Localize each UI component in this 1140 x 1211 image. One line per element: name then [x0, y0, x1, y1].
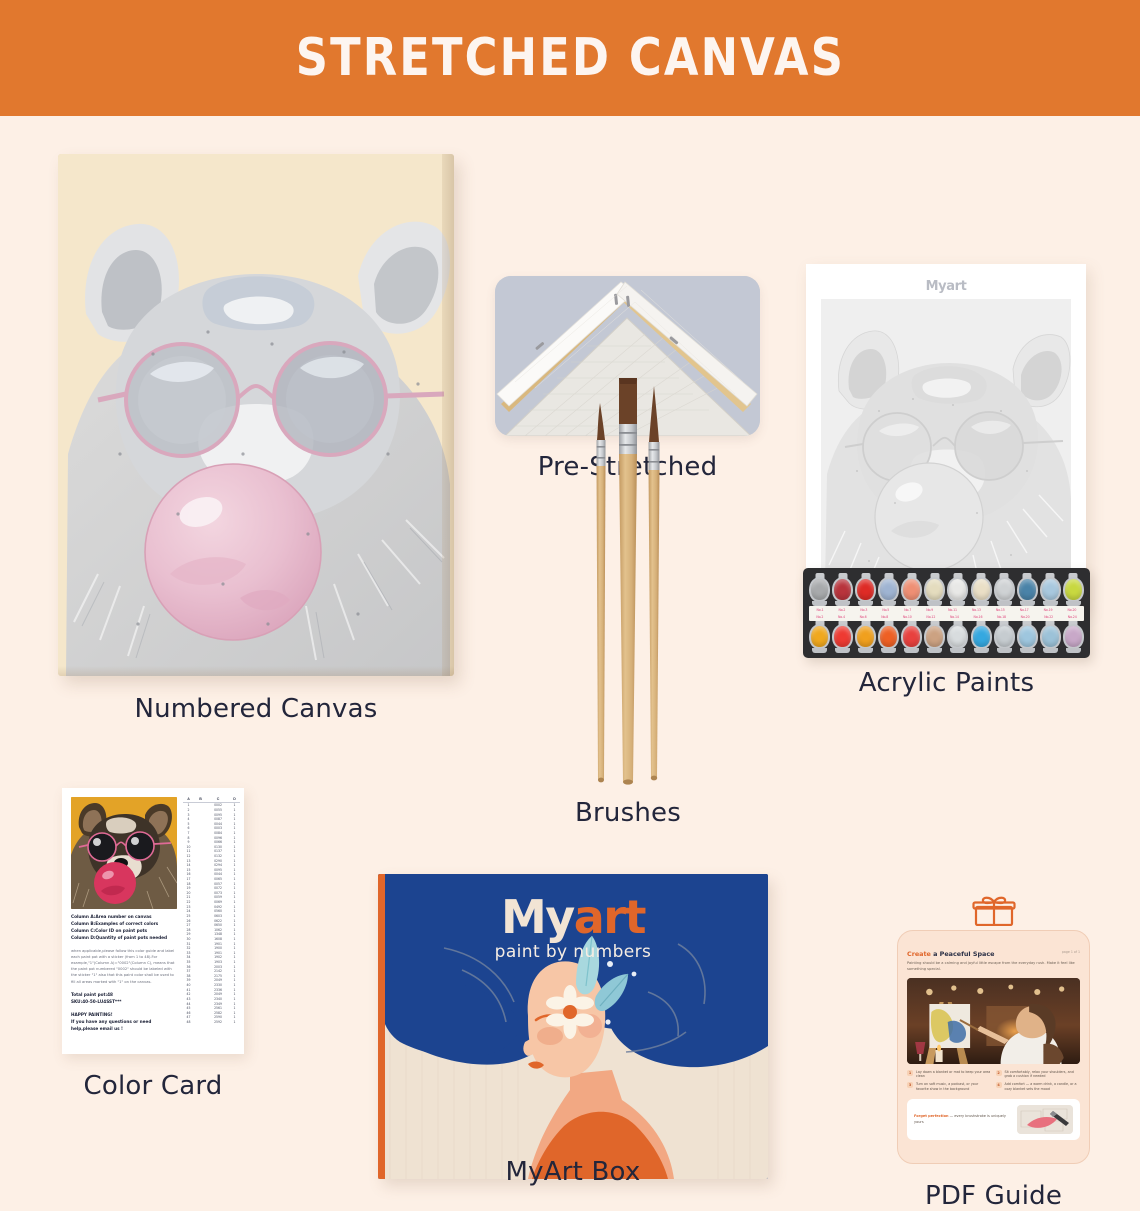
reference-sheet-item: Myart: [806, 264, 1086, 609]
cell-area-number: 23: [183, 905, 194, 909]
cell-area-number: 34: [183, 955, 194, 959]
page-header: STRETCHED CANVAS: [0, 0, 1140, 116]
paint-pot-body: [947, 577, 968, 602]
paint-pot-body: [1017, 577, 1038, 602]
paint-pot-base: [835, 648, 850, 653]
paint-label: No.14: [950, 615, 959, 619]
color-table-row: 1101371: [183, 849, 240, 854]
cell-area-number: 25: [183, 914, 194, 918]
color-table-row: 2506031: [183, 914, 240, 919]
cell-area-number: 5: [183, 822, 194, 826]
cell-color-id: 0095: [207, 868, 229, 872]
color-table-row: 800961: [183, 835, 240, 840]
color-card-caption: Color Card: [62, 1071, 244, 1101]
pdf-tip-text: Lay down a blanket or mat to keep your a…: [916, 1070, 991, 1080]
cell-quantity: 1: [229, 932, 240, 936]
paint-pot: [1063, 620, 1084, 653]
cell-area-number: 46: [183, 1011, 194, 1015]
cell-area-number: 41: [183, 988, 194, 992]
paint-label: No.2: [838, 608, 845, 612]
cell-quantity: 1: [229, 831, 240, 835]
paint-pot-body: [809, 577, 830, 602]
paint-pot-body: [1040, 624, 1061, 649]
paint-pot: [832, 620, 853, 653]
cell-quantity: 1: [229, 808, 240, 812]
pdf-guide-item: page 1 of 1 Create a Peaceful Space Pain…: [897, 898, 1090, 1164]
paint-row-top: [809, 573, 1084, 606]
paint-row-bottom: [809, 620, 1084, 653]
paint-pot: [878, 620, 899, 653]
cell-quantity: 1: [229, 1006, 240, 1010]
cell-area-number: 36: [183, 965, 194, 969]
paint-label: No.8: [881, 615, 888, 619]
paint-label: No.17: [1020, 608, 1029, 612]
cell-quantity: 1: [229, 997, 240, 1001]
pdf-tip-text: Add comfort — a warm drink, a candle, or…: [1005, 1082, 1080, 1092]
cell-area-number: 15: [183, 868, 194, 872]
cell-color-id: 0044: [207, 872, 229, 876]
pdf-heading-accent: Create: [907, 950, 931, 958]
paint-pot-body: [924, 577, 945, 602]
color-table-row: 300951: [183, 812, 240, 817]
cell-color-id: 0650: [207, 923, 229, 927]
gift-box-icon: [972, 896, 1016, 926]
cell-area-number: 38: [183, 974, 194, 978]
cell-color-id: 0084: [207, 831, 229, 835]
logo-wordmark: Myart: [378, 890, 768, 944]
acrylic-paints-caption: Acrylic Paints: [803, 668, 1090, 698]
cell-color-id: 2592: [207, 1020, 229, 1024]
color-table-row: 1700651: [183, 877, 240, 882]
woman-painting-photo: [907, 978, 1080, 1064]
cell-area-number: 28: [183, 928, 194, 932]
color-card-legend: Column A:Area number on canvas Column B:…: [71, 915, 177, 1032]
cell-color-id: 0603: [207, 914, 229, 918]
cell-area-number: 31: [183, 942, 194, 946]
cell-color-id: 0290: [207, 859, 229, 863]
paint-pot: [809, 573, 830, 606]
cell-area-number: 42: [183, 992, 194, 996]
cell-color-id: 0137: [207, 849, 229, 853]
pdf-tip-number: 3: [907, 1082, 913, 1088]
color-table-row: 4123361: [183, 987, 240, 992]
color-card-table: A B C D 10002120055130095140087150044160…: [183, 797, 240, 1046]
paint-pot: [1063, 573, 1084, 606]
cell-quantity: 1: [229, 1020, 240, 1024]
total-paint-pot: Total paint pot:48: [71, 991, 177, 998]
pdf-guide-content: page 1 of 1 Create a Peaceful Space Pain…: [907, 950, 1080, 1141]
paint-pot-body: [832, 624, 853, 649]
color-table-row: 600031: [183, 826, 240, 831]
cell-color-id: 0294: [207, 863, 229, 867]
color-table-row: 1302901: [183, 858, 240, 863]
reference-sheet-logo: Myart: [821, 278, 1071, 296]
pdf-tip: 2Sit comfortably, relax your shoulders, …: [996, 1070, 1080, 1080]
paint-label-row-top: No.1No.2No.3No.5No.7No.9No.11No.13No.15N…: [809, 607, 1084, 614]
color-table-row: 2706501: [183, 923, 240, 928]
cell-color-id: 0002: [207, 803, 229, 807]
cell-color-id: 1900: [207, 946, 229, 950]
cell-quantity: 1: [229, 946, 240, 950]
cell-quantity: 1: [229, 1015, 240, 1019]
cell-area-number: 1: [183, 803, 194, 807]
paint-label: No.22: [1044, 615, 1053, 619]
raccoon-canvas-art: [58, 154, 454, 676]
paint-label: No.20: [1068, 608, 1077, 612]
legend-column-c: Column C:Color ID on paint pots: [71, 929, 177, 936]
cell-color-id: 1062: [207, 928, 229, 932]
cell-area-number: 14: [183, 863, 194, 867]
cell-color-id: 1608: [207, 937, 229, 941]
paint-pot: [994, 620, 1015, 653]
cell-area-number: 47: [183, 1015, 194, 1019]
cell-area-number: 44: [183, 1002, 194, 1006]
myart-box-image: Myart paint by numbers: [378, 874, 768, 1179]
cell-color-id: 0003: [207, 826, 229, 830]
paint-pot-base: [974, 648, 989, 653]
cell-quantity: 1: [229, 813, 240, 817]
cell-quantity: 1: [229, 919, 240, 923]
paint-pot: [809, 620, 830, 653]
cell-area-number: 12: [183, 854, 194, 858]
numbered-canvas-item: Numbered Canvas: [58, 154, 454, 676]
cell-area-number: 11: [183, 849, 194, 853]
color-table-row: 2810621: [183, 927, 240, 932]
cell-color-id: 0087: [207, 817, 229, 821]
paint-pot-body: [971, 577, 992, 602]
raccoon-line-drawing: [821, 299, 1071, 585]
cell-area-number: 39: [183, 978, 194, 982]
paint-label: No.5: [882, 608, 889, 612]
logo-my: My: [501, 890, 574, 944]
cell-area-number: 18: [183, 882, 194, 886]
col-header-d: D: [229, 797, 240, 801]
paint-pot-body: [1017, 624, 1038, 649]
cell-quantity: 1: [229, 942, 240, 946]
paint-pot-body: [901, 577, 922, 602]
cell-area-number: 2: [183, 808, 194, 812]
logo-art: art: [574, 890, 645, 944]
paint-label: No.24: [1068, 615, 1077, 619]
paint-pot: [971, 573, 992, 606]
cell-quantity: 1: [229, 895, 240, 899]
color-table-row: 4323401: [183, 997, 240, 1002]
paint-pot-body: [878, 577, 899, 602]
color-table-row: 2000731: [183, 891, 240, 896]
cell-area-number: 40: [183, 983, 194, 987]
acrylic-paints-item: No.1No.2No.3No.5No.7No.9No.11No.13No.15N…: [803, 568, 1090, 658]
happy-painting: HAPPY PAINTING!: [71, 1011, 177, 1018]
pdf-tip: 4Add comfort — a warm drink, a candle, o…: [996, 1082, 1080, 1092]
color-table-row: 2606221: [183, 918, 240, 923]
paint-label: No.20: [1021, 615, 1030, 619]
paint-pot: [924, 573, 945, 606]
cell-area-number: 37: [183, 969, 194, 973]
color-table-row: 3519031: [183, 960, 240, 965]
cell-area-number: 30: [183, 937, 194, 941]
paint-pot: [947, 620, 968, 653]
cell-area-number: 17: [183, 877, 194, 881]
cell-quantity: 1: [229, 900, 240, 904]
paint-pot-base: [1066, 648, 1081, 653]
paint-pot-body: [1040, 577, 1061, 602]
color-table-row: 3721421: [183, 969, 240, 974]
paint-label: No.4: [838, 615, 845, 619]
cell-color-id: 1903: [207, 960, 229, 964]
cell-color-id: 0095: [207, 813, 229, 817]
pdf-tip-number: 2: [996, 1070, 1002, 1076]
paint-pot: [1017, 573, 1038, 606]
pdf-heading: page 1 of 1 Create a Peaceful Space: [907, 950, 1080, 958]
cell-color-id: 2590: [207, 1015, 229, 1019]
paint-pot-base: [997, 648, 1012, 653]
color-table-row: 2100591: [183, 895, 240, 900]
cell-area-number: 6: [183, 826, 194, 830]
paint-label: No.19: [1044, 608, 1053, 612]
color-table-row: 1600441: [183, 872, 240, 877]
paint-pot: [924, 620, 945, 653]
cell-area-number: 24: [183, 909, 194, 913]
gift-icon: [897, 896, 1090, 926]
paint-pot-base: [1043, 648, 1058, 653]
cell-color-id: 0065: [207, 877, 229, 881]
cell-area-number: 32: [183, 946, 194, 950]
paint-pot: [971, 620, 992, 653]
legend-column-d: Column D:Quantity of paint pots needed: [71, 936, 177, 943]
cell-quantity: 1: [229, 988, 240, 992]
paint-label: No.16: [974, 615, 983, 619]
paint-label: No.18: [997, 615, 1006, 619]
color-table-row: 1201321: [183, 854, 240, 859]
pdf-photo: [907, 978, 1080, 1064]
color-table-row: 400871: [183, 817, 240, 822]
color-table-row: 1900721: [183, 886, 240, 891]
paint-pot-body: [1063, 577, 1084, 602]
pdf-guide-caption: PDF Guide: [897, 1181, 1090, 1211]
cell-area-number: 13: [183, 859, 194, 863]
color-table-row: 1500951: [183, 868, 240, 873]
cell-color-id: 2582: [207, 1011, 229, 1015]
cell-quantity: 1: [229, 978, 240, 982]
pdf-guide-page: page 1 of 1 Create a Peaceful Space Pain…: [897, 930, 1090, 1164]
cell-color-id: 1901: [207, 951, 229, 955]
pdf-page-label: page 1 of 1: [1062, 950, 1080, 954]
myart-box-caption: MyArt Box: [378, 1157, 768, 1187]
cell-area-number: 35: [183, 960, 194, 964]
cell-quantity: 1: [229, 960, 240, 964]
cell-area-number: 29: [183, 932, 194, 936]
cell-quantity: 1: [229, 817, 240, 821]
myart-logo: Myart paint by numbers: [378, 890, 768, 962]
paint-pot-body: [994, 624, 1015, 649]
paint-label: No.2: [816, 615, 823, 619]
pdf-tip: 1Lay down a blanket or mat to keep your …: [907, 1070, 991, 1080]
paint-pot: [1040, 573, 1061, 606]
cell-area-number: 21: [183, 895, 194, 899]
acrylic-paints-image: No.1No.2No.3No.5No.7No.9No.11No.13No.15N…: [803, 568, 1090, 658]
page-title: STRETCHED CANVAS: [295, 28, 844, 88]
col-header-a: A: [183, 797, 194, 801]
color-table-row: 1001301: [183, 844, 240, 849]
color-table-row: 3119011: [183, 941, 240, 946]
cell-quantity: 1: [229, 969, 240, 973]
color-table-row: 3419021: [183, 955, 240, 960]
cell-color-id: 2175: [207, 974, 229, 978]
paint-pot-base: [1020, 648, 1035, 653]
cell-color-id: 2349: [207, 1002, 229, 1006]
cell-color-id: 2336: [207, 988, 229, 992]
pdf-tip: 3Turn on soft music, a podcast, or your …: [907, 1082, 991, 1092]
cell-quantity: 1: [229, 822, 240, 826]
color-table-row: 500441: [183, 821, 240, 826]
cell-color-id: 2340: [207, 997, 229, 1001]
cell-color-id: 2142: [207, 969, 229, 973]
pdf-note-accent: Forget perfection: [914, 1114, 949, 1118]
legend-column-b: Column B:Examples of correct colors: [71, 922, 177, 929]
paint-pot-body: [901, 624, 922, 649]
paint-pot: [901, 620, 922, 653]
cell-quantity: 1: [229, 923, 240, 927]
cell-color-id: 2003: [207, 965, 229, 969]
cell-area-number: 20: [183, 891, 194, 895]
cell-area-number: 43: [183, 997, 194, 1001]
cell-quantity: 1: [229, 868, 240, 872]
brushes-item: Brushes: [548, 358, 708, 790]
cell-area-number: 27: [183, 923, 194, 927]
cell-quantity: 1: [229, 840, 240, 844]
cell-color-id: 2049: [207, 992, 229, 996]
product-grid: Numbered Canvas: [0, 116, 1140, 1140]
cell-quantity: 1: [229, 803, 240, 807]
cell-quantity: 1: [229, 854, 240, 858]
cell-area-number: 48: [183, 1020, 194, 1024]
cell-quantity: 1: [229, 891, 240, 895]
paint-pot: [855, 620, 876, 653]
pdf-tip-number: 1: [907, 1070, 913, 1076]
col-header-c: C: [207, 797, 229, 801]
color-table-row: 2405601: [183, 909, 240, 914]
pdf-tip-text: Sit comfortably, relax your shoulders, a…: [1005, 1070, 1080, 1080]
cell-color-id: 0044: [207, 822, 229, 826]
paint-pot-base: [927, 648, 942, 653]
pdf-note-image: [1017, 1105, 1073, 1134]
cell-area-number: 26: [183, 919, 194, 923]
paint-label: No.15: [996, 608, 1005, 612]
cell-area-number: 45: [183, 1006, 194, 1010]
pdf-tip-number: 4: [996, 1082, 1002, 1088]
color-table-row: 4825921: [183, 1020, 240, 1025]
color-table-row: 3821751: [183, 974, 240, 979]
paint-pot-body: [924, 624, 945, 649]
cell-color-id: 2330: [207, 983, 229, 987]
cell-quantity: 1: [229, 983, 240, 987]
brushstroke-image: [1017, 1105, 1073, 1134]
cell-color-id: 1902: [207, 955, 229, 959]
paint-label: No.3: [860, 608, 867, 612]
cell-quantity: 1: [229, 951, 240, 955]
paint-pot-body: [855, 577, 876, 602]
cell-quantity: 1: [229, 849, 240, 853]
cell-quantity: 1: [229, 1002, 240, 1006]
paint-pot: [878, 573, 899, 606]
paint-pot-body: [878, 624, 899, 649]
cell-quantity: 1: [229, 836, 240, 840]
cell-quantity: 1: [229, 965, 240, 969]
cell-color-id: 0492: [207, 905, 229, 909]
reference-sheet-paper: Myart: [806, 264, 1086, 609]
paint-pot: [901, 573, 922, 606]
cell-color-id: 0055: [207, 808, 229, 812]
color-table-row: 4725901: [183, 1015, 240, 1020]
paint-pot: [1040, 620, 1061, 653]
color-table-row: 4423491: [183, 1001, 240, 1006]
paint-label: No.11: [948, 608, 957, 612]
cell-color-id: 0096: [207, 836, 229, 840]
cell-color-id: 0132: [207, 854, 229, 858]
paint-label: No.12: [926, 615, 935, 619]
paint-pot-base: [812, 648, 827, 653]
color-table-row: 3219001: [183, 946, 240, 951]
pdf-tip-text: Turn on soft music, a podcast, or your f…: [916, 1082, 991, 1092]
paint-pot-body: [971, 624, 992, 649]
cell-color-id: 0066: [207, 840, 229, 844]
color-table-row: 4220491: [183, 992, 240, 997]
paint-pot-base: [881, 648, 896, 653]
paint-label: No.13: [972, 608, 981, 612]
paint-pot-body: [832, 577, 853, 602]
logo-tagline: paint by numbers: [378, 942, 768, 962]
cell-area-number: 9: [183, 840, 194, 844]
cell-area-number: 33: [183, 951, 194, 955]
color-table-row: 3620031: [183, 964, 240, 969]
color-table-row: 100021: [183, 803, 240, 808]
cell-color-id: 1348: [207, 932, 229, 936]
color-card-thumbnail: [71, 797, 177, 909]
color-table-row: 3016081: [183, 937, 240, 942]
paint-pot-base: [950, 648, 965, 653]
cell-color-id: 0069: [207, 900, 229, 904]
cell-quantity: 1: [229, 826, 240, 830]
color-table-row: 1402941: [183, 863, 240, 868]
color-card-left-column: Column A:Area number on canvas Column B:…: [71, 797, 177, 1046]
cell-area-number: 19: [183, 886, 194, 890]
paint-pot: [855, 573, 876, 606]
cell-area-number: 10: [183, 845, 194, 849]
pdf-subtitle: Painting should be a calming and joyful …: [907, 961, 1080, 973]
cell-quantity: 1: [229, 845, 240, 849]
color-card-paragraph: when applicable,please follow this color…: [71, 948, 177, 985]
paint-label: No.7: [904, 608, 911, 612]
color-table-row: 2200691: [183, 900, 240, 905]
cell-quantity: 1: [229, 882, 240, 886]
cell-quantity: 1: [229, 877, 240, 881]
color-table-row: 2913481: [183, 932, 240, 937]
brushes-image: [548, 358, 708, 790]
cell-quantity: 1: [229, 863, 240, 867]
cell-color-id: 0622: [207, 919, 229, 923]
reference-sheet-image: [821, 299, 1071, 585]
cell-color-id: 1901: [207, 942, 229, 946]
cell-quantity: 1: [229, 886, 240, 890]
cell-area-number: 4: [183, 817, 194, 821]
color-card-item: Column A:Area number on canvas Column B:…: [62, 788, 244, 1054]
cell-quantity: 1: [229, 1011, 240, 1015]
numbered-canvas-caption: Numbered Canvas: [58, 694, 454, 724]
color-card-paper: Column A:Area number on canvas Column B:…: [62, 788, 244, 1054]
cell-quantity: 1: [229, 937, 240, 941]
cell-area-number: 16: [183, 872, 194, 876]
paint-pot: [947, 573, 968, 606]
